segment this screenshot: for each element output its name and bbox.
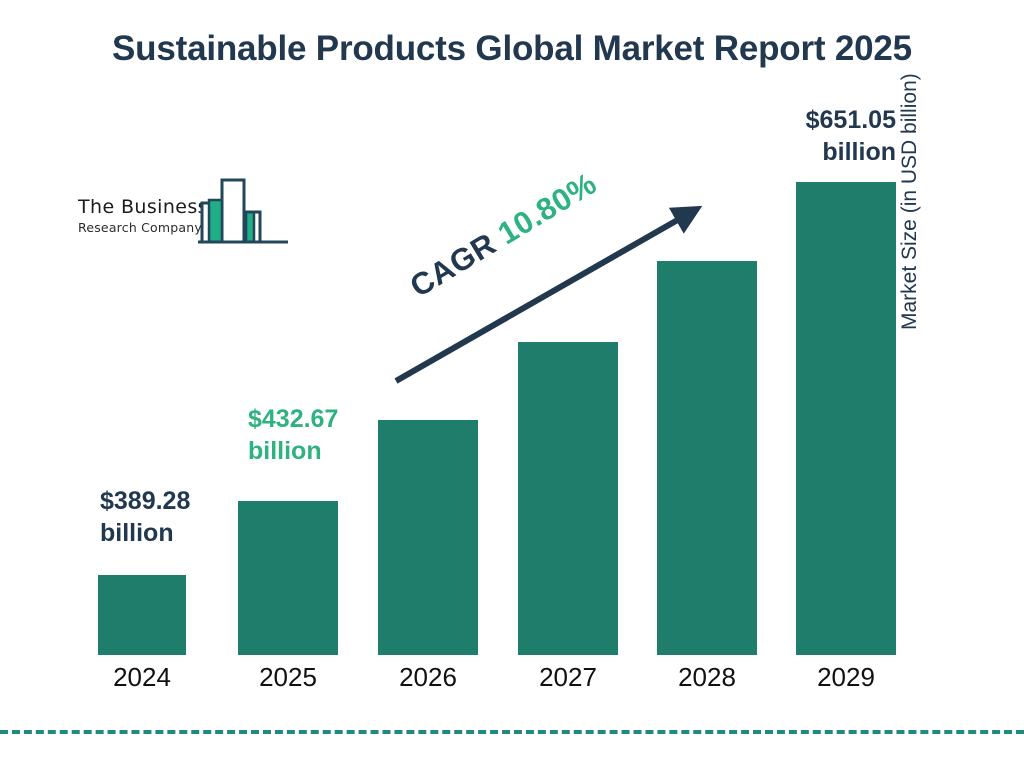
- x-axis-label-2026: 2026: [363, 662, 493, 693]
- footer-divider: [0, 730, 1024, 734]
- x-axis-label-2027: 2027: [503, 662, 633, 693]
- y-axis-title: Market Size (in USD billion): [898, 0, 922, 330]
- chart-canvas: Sustainable Products Global Market Repor…: [0, 0, 1024, 768]
- cagr-arrow: [0, 0, 1024, 768]
- x-axis-label-2028: 2028: [642, 662, 772, 693]
- x-axis-label-2025: 2025: [223, 662, 353, 693]
- x-axis-label-2029: 2029: [781, 662, 911, 693]
- x-axis-label-2024: 2024: [77, 662, 207, 693]
